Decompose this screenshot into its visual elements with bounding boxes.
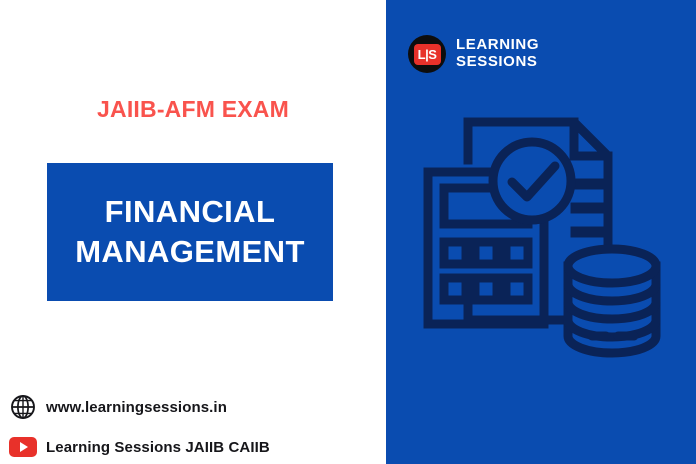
course-title-line-2: MANAGEMENT — [75, 232, 305, 272]
left-content-panel: JAIIB-AFM EXAM FINANCIAL MANAGEMENT w — [0, 0, 386, 464]
document-text-bars — [576, 184, 598, 232]
course-title-line-1: FINANCIAL — [105, 192, 276, 232]
website-url-text: www.learningsessions.in — [46, 399, 227, 416]
brand-wordmark: LEARNING SESSIONS — [456, 37, 539, 71]
brand-mark-text: L|S — [418, 47, 437, 62]
check-circle — [493, 142, 571, 220]
brand-logo: L|S LEARNING SESSIONS — [408, 35, 539, 73]
website-row[interactable]: www.learningsessions.in — [8, 390, 386, 424]
poster-canvas: JAIIB-AFM EXAM FINANCIAL MANAGEMENT w — [0, 0, 696, 464]
globe-icon — [8, 392, 38, 422]
coin-stack — [568, 249, 656, 353]
course-title-box: FINANCIAL MANAGEMENT — [47, 163, 333, 301]
brand-name-line-2: SESSIONS — [456, 54, 539, 71]
footer-links: www.learningsessions.in Learning Session… — [8, 390, 386, 464]
youtube-row[interactable]: Learning Sessions JAIIB CAIIB — [8, 430, 386, 464]
exam-label: JAIIB-AFM EXAM — [0, 96, 386, 123]
finance-document-calculator-coins-illustration — [422, 108, 664, 366]
brand-mark-icon: L|S — [408, 35, 446, 73]
calculator-keys — [444, 242, 528, 300]
youtube-channel-text: Learning Sessions JAIIB CAIIB — [46, 439, 270, 456]
youtube-icon — [8, 432, 38, 462]
right-brand-panel: L|S LEARNING SESSIONS — [386, 0, 696, 464]
brand-name-line-1: LEARNING — [456, 37, 539, 54]
